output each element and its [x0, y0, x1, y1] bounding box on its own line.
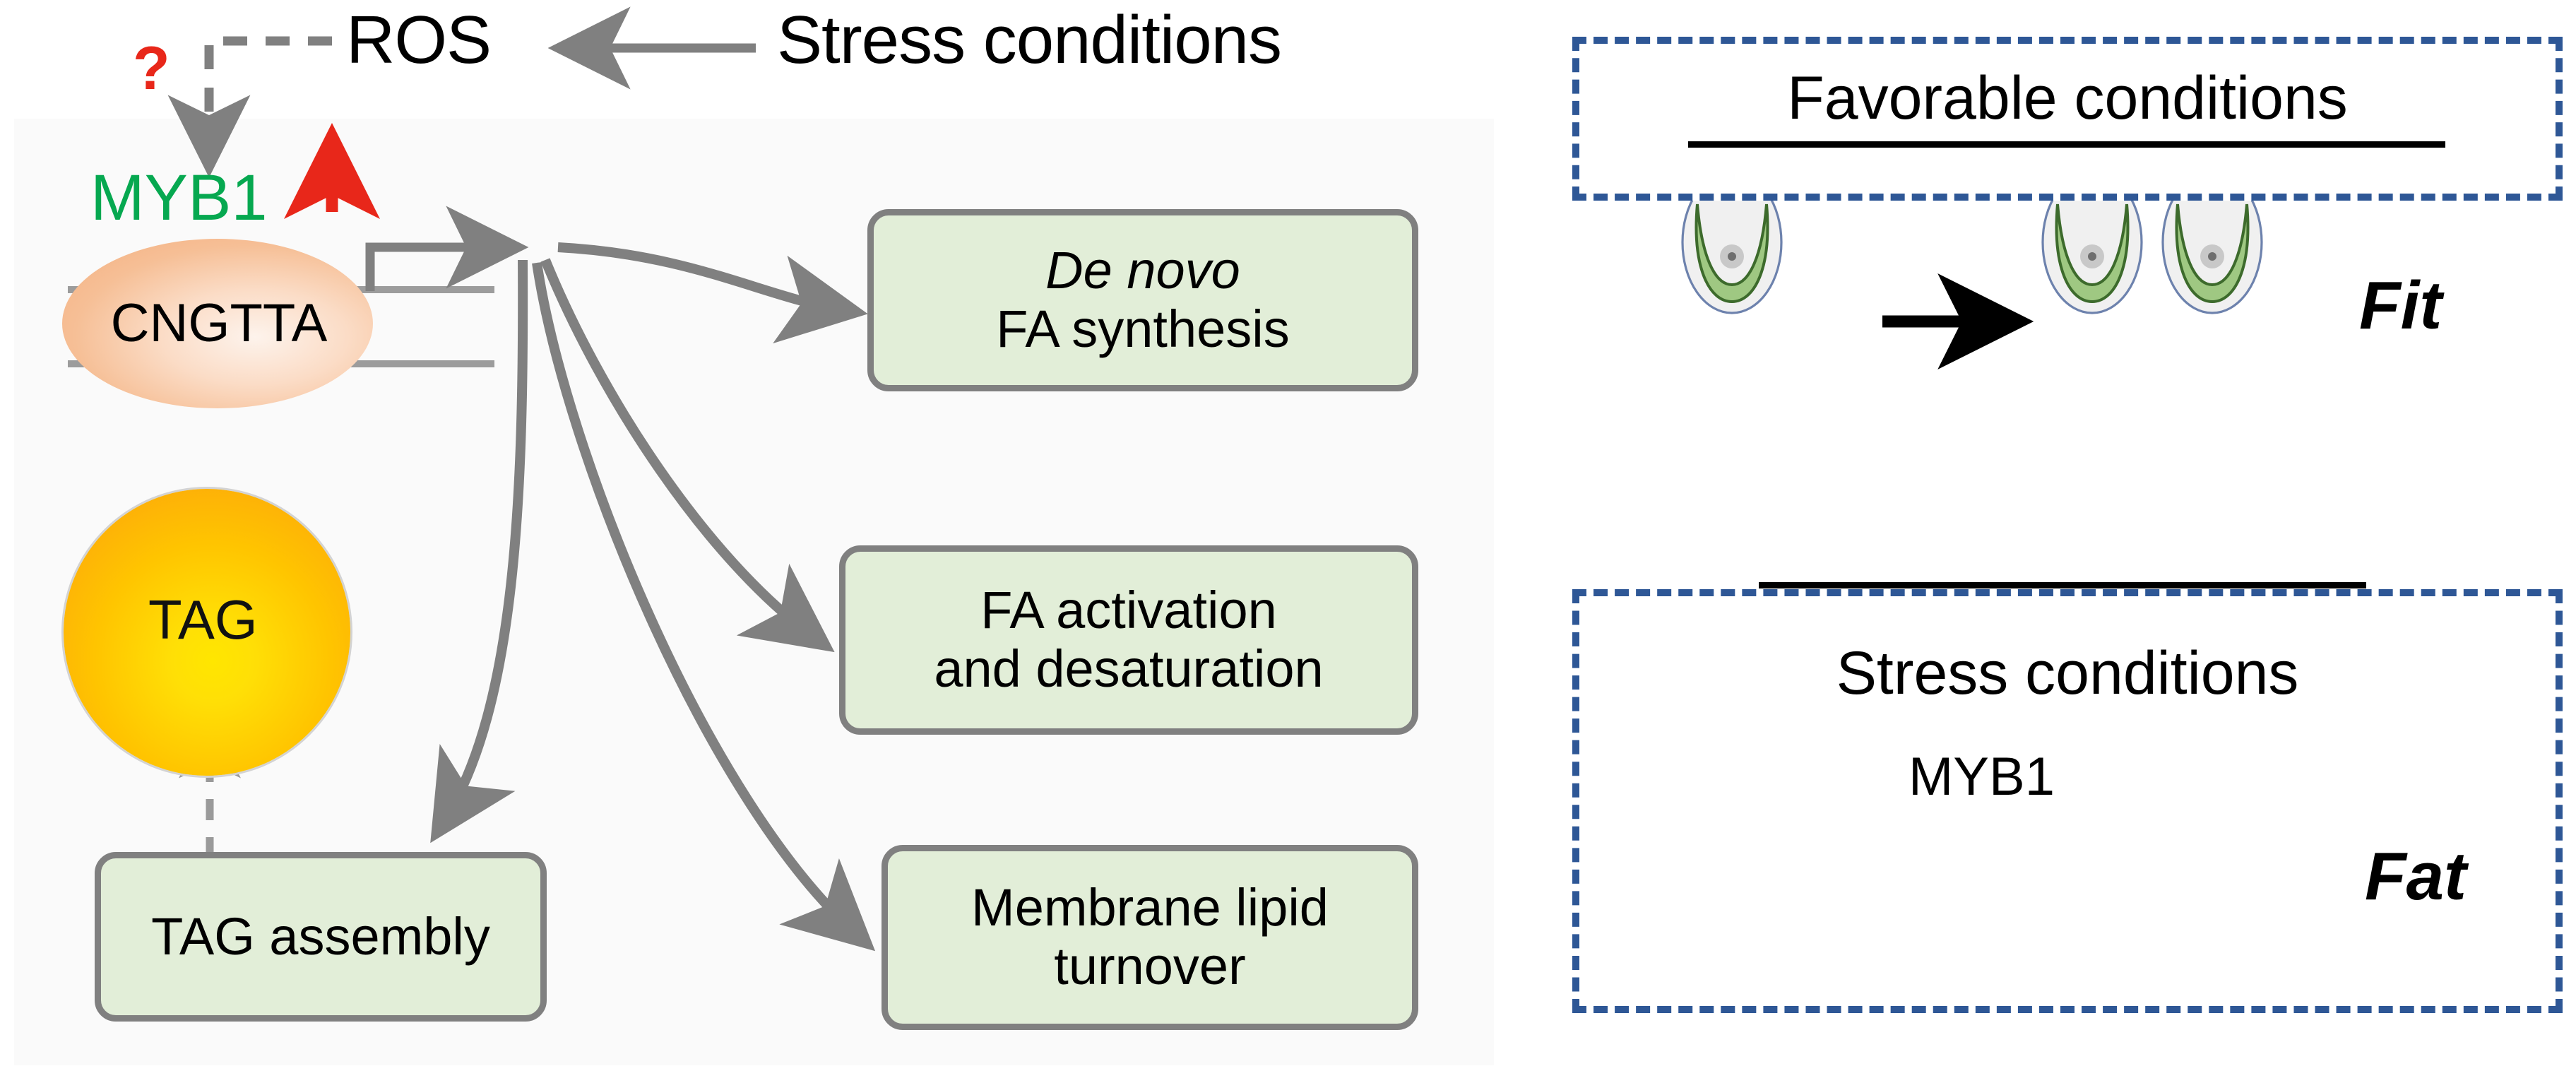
favorable-conditions-title: Favorable conditions	[1579, 64, 2556, 134]
card-stress-conditions: Stress conditions	[1572, 589, 2563, 1013]
fit-outcome-label: Fit	[2359, 270, 2442, 342]
ros-label: ROS	[346, 4, 491, 76]
tag-label: TAG	[148, 591, 258, 649]
question-mark-label: ?	[133, 37, 170, 101]
box-fa-activation-and-desaturation[interactable]: FA activation and desaturation	[839, 545, 1418, 735]
cngtta-motif-label: CNGTTA	[85, 295, 353, 353]
box-fa-act-line2: and desaturation	[934, 639, 1323, 698]
figure-canvas: ROS Stress conditions ? MYB1 CNGTTA TAG …	[0, 0, 2576, 1083]
stress-conditions-title-underline	[1759, 582, 2366, 588]
fat-outcome-label: Fat	[2365, 841, 2467, 913]
box-memb-line2: turnover	[1054, 937, 1245, 995]
stress-conditions-title: Stress conditions	[1579, 639, 2556, 709]
box-tag-assembly-label: TAG assembly	[151, 908, 490, 966]
box-memb-line1: Membrane lipid	[971, 878, 1329, 937]
myb1-arrow-label: MYB1	[1909, 749, 2055, 806]
card-favorable-conditions: Favorable conditions	[1572, 37, 2563, 201]
stress-conditions-top-label: Stress conditions	[777, 4, 1281, 76]
box-tag-assembly[interactable]: TAG assembly	[95, 852, 547, 1022]
box-membrane-lipid-turnover[interactable]: Membrane lipid turnover	[882, 845, 1418, 1030]
box-de-novo-line2: FA synthesis	[996, 300, 1289, 358]
box-de-novo-line1: De novo	[1045, 241, 1240, 300]
box-de-novo-fa-synthesis[interactable]: De novo FA synthesis	[867, 209, 1418, 391]
myb1-label: MYB1	[90, 164, 268, 233]
favorable-conditions-title-underline	[1688, 141, 2445, 148]
box-fa-act-line1: FA activation	[980, 581, 1277, 639]
